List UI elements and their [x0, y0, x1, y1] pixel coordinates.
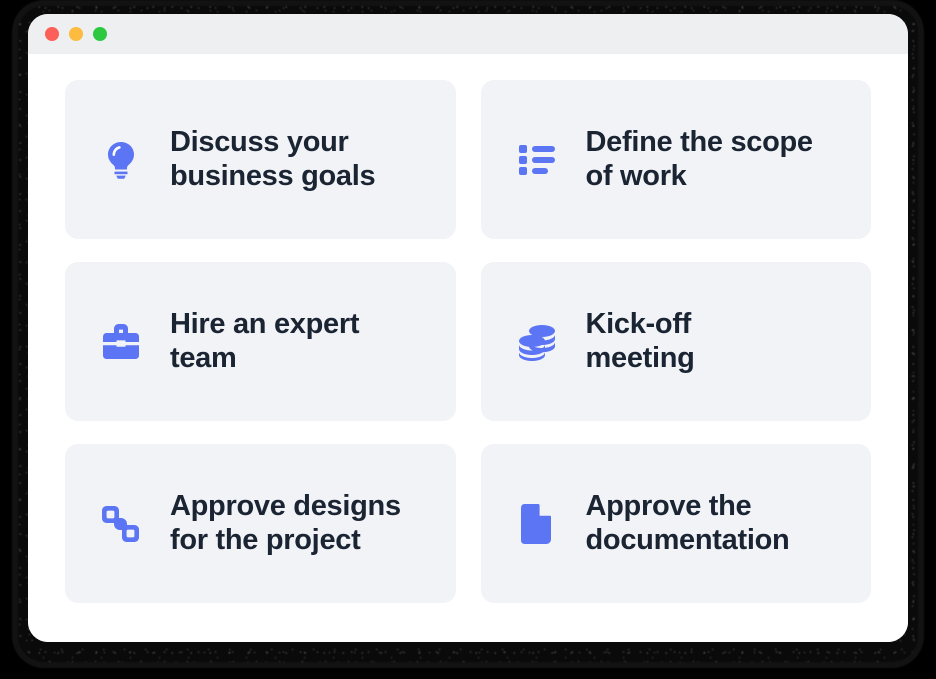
lightbulb-icon	[99, 138, 143, 182]
close-button[interactable]	[45, 27, 59, 41]
step-card-label: Define the scope of work	[586, 126, 813, 193]
step-card-discuss-goals[interactable]: Discuss your business goals	[65, 80, 456, 239]
briefcase-icon	[99, 320, 143, 364]
steps-grid: Discuss your business goals Define the s…	[65, 80, 871, 603]
step-card-approve-documentation[interactable]: Approve the documentation	[481, 444, 872, 603]
step-card-label: Hire an expert team	[170, 308, 359, 375]
step-card-label: Discuss your business goals	[170, 126, 375, 193]
step-card-label: Kick-off meeting	[586, 308, 695, 375]
document-icon	[515, 502, 559, 546]
step-card-define-scope[interactable]: Define the scope of work	[481, 80, 872, 239]
step-card-label: Approve the documentation	[586, 490, 790, 557]
app-window: Discuss your business goals Define the s…	[28, 14, 908, 642]
step-card-approve-designs[interactable]: Approve designs for the project	[65, 444, 456, 603]
maximize-button[interactable]	[93, 27, 107, 41]
window-titlebar	[28, 14, 908, 54]
window-content: Discuss your business goals Define the s…	[28, 54, 908, 642]
step-card-hire-team[interactable]: Hire an expert team	[65, 262, 456, 421]
coins-icon	[515, 320, 559, 364]
step-card-kickoff-meeting[interactable]: Kick-off meeting	[481, 262, 872, 421]
list-icon	[515, 138, 559, 182]
minimize-button[interactable]	[69, 27, 83, 41]
shapes-icon	[99, 502, 143, 546]
step-card-label: Approve designs for the project	[170, 490, 401, 557]
